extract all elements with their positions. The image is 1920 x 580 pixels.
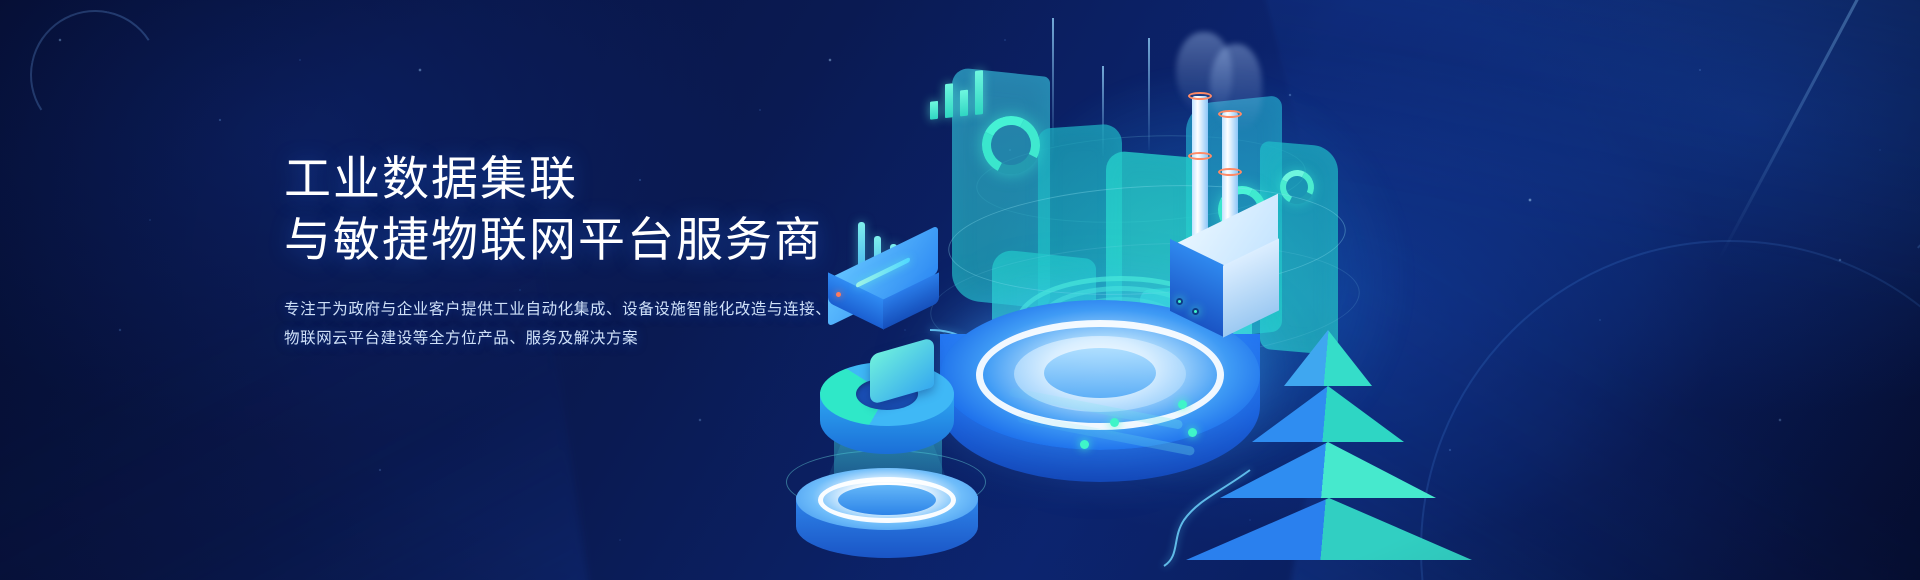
- smokestack-1: [1192, 96, 1208, 246]
- subcopy-line-2: 物联网云平台建设等全方位产品、服务及解决方案: [284, 325, 924, 354]
- pyramid-layer-2: [1252, 386, 1404, 442]
- factory-led-1: [1176, 298, 1183, 305]
- pedestal-platform: [796, 468, 978, 566]
- layered-pyramid: [1180, 330, 1480, 580]
- factory-led-2: [1192, 308, 1199, 315]
- pyramid-layer-4: [1186, 498, 1472, 560]
- disc-ring-inner: [1044, 348, 1156, 398]
- hero-illustration: [780, 0, 1920, 580]
- headline-line-1: 工业数据集联: [284, 148, 924, 209]
- hero-copy: 工业数据集联 与敏捷物联网平台服务商 专注于为政府与企业客户提供工业自动化集成、…: [284, 148, 924, 354]
- headline-line-2: 与敏捷物联网平台服务商: [284, 209, 924, 270]
- link-node-3: [1110, 418, 1119, 427]
- arc-top-left: [18, 0, 172, 152]
- pedestal-ring-inner: [838, 485, 936, 515]
- link-node-4: [1080, 440, 1089, 449]
- smokestack-factory: [1170, 60, 1370, 360]
- smokestack-1-ring-mid: [1188, 152, 1212, 160]
- subcopy-line-1: 专注于为政府与企业客户提供工业自动化集成、设备设施智能化改造与连接、: [284, 296, 924, 325]
- smokestack-2-ring-top: [1218, 110, 1242, 118]
- pyramid-layer-3: [1220, 442, 1436, 498]
- pyramid-layer-1: [1284, 330, 1372, 386]
- bar-chart-glyph-icon: [930, 54, 1000, 119]
- hero-banner: 工业数据集联 与敏捷物联网平台服务商 专注于为政府与企业客户提供工业自动化集成、…: [0, 0, 1920, 580]
- smokestack-2-ring-mid: [1218, 168, 1242, 176]
- hero-subcopy: 专注于为政府与企业客户提供工业自动化集成、设备设施智能化改造与连接、 物联网云平…: [284, 296, 924, 353]
- smokestack-1-ring-top: [1188, 92, 1212, 100]
